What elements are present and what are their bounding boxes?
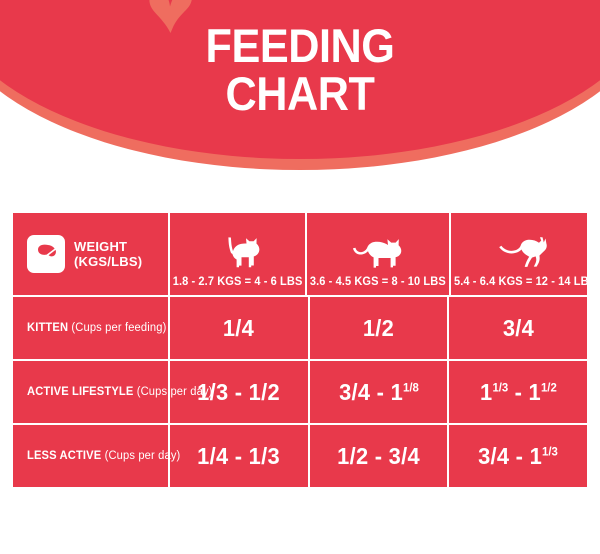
scale-icon [27, 235, 65, 273]
row-label-kitten-main: KITTEN [27, 322, 68, 334]
value-kitten-col1: 1/4 [223, 315, 254, 342]
cell-kitten-col1: 1/4 [168, 297, 308, 359]
adult-weight-range: 3.6 - 4.5 KGS = 8 - 10 LBS [310, 276, 446, 288]
value-active-col3: 11/3 - 11/2 [480, 379, 557, 406]
weight-header-label-line-1: WEIGHT [74, 239, 142, 254]
senior-weight-header-cell: 5.4 - 6.4 KGS = 12 - 14 LBS [449, 213, 599, 295]
cell-less-active-col2: 1/2 - 3/4 [308, 425, 448, 487]
value-active-col2: 3/4 - 11/8 [339, 379, 419, 406]
value-kitten-col3: 3/4 [503, 315, 534, 342]
table-header-row: WEIGHT (KGS/LBS) 1.8 - 2.7 KGS = 4 - 6 L… [13, 213, 587, 295]
page-title: FEEDING CHART [24, 22, 576, 119]
header-banner: FEEDING CHART [0, 0, 600, 180]
cat-sitting-grooming-icon [495, 234, 555, 274]
value-less-active-col3: 3/4 - 11/3 [478, 443, 558, 470]
row-label-kitten: KITTEN (Cups per feeding) [27, 322, 166, 334]
kitten-icon [213, 234, 263, 274]
row-label-kitten-sub: (Cups per feeding) [71, 322, 166, 334]
cell-active-col1: 1/3 - 1/2 [168, 361, 308, 423]
weight-header-cell: WEIGHT (KGS/LBS) [13, 213, 168, 295]
row-label-less-active-main: LESS ACTIVE [27, 450, 101, 462]
value-active-col1: 1/3 - 1/2 [197, 379, 280, 406]
row-label-active-main: ACTIVE LIFESTYLE [27, 386, 133, 398]
table-row: ACTIVE LIFESTYLE (Cups per day) 1/3 - 1/… [13, 359, 587, 423]
kitten-weight-range: 1.8 - 2.7 KGS = 4 - 6 LBS [173, 276, 303, 288]
row-label-less-active: LESS ACTIVE (Cups per day) [27, 450, 180, 462]
weight-header-label-line-2: (KGS/LBS) [74, 254, 142, 269]
adult-weight-header-cell: 3.6 - 4.5 KGS = 8 - 10 LBS [305, 213, 449, 295]
value-kitten-col2: 1/2 [363, 315, 394, 342]
feeding-chart-table: WEIGHT (KGS/LBS) 1.8 - 2.7 KGS = 4 - 6 L… [13, 213, 587, 487]
cell-less-active-col1: 1/4 - 1/3 [168, 425, 308, 487]
weight-header-label: WEIGHT (KGS/LBS) [74, 239, 142, 270]
page-title-line-2: CHART [24, 70, 576, 118]
cell-active-col2: 3/4 - 11/8 [308, 361, 448, 423]
table-row: LESS ACTIVE (Cups per day) 1/4 - 1/3 1/2… [13, 423, 587, 487]
value-less-active-col2: 1/2 - 3/4 [337, 443, 420, 470]
cell-kitten-col3: 3/4 [447, 297, 587, 359]
row-label-cell-active: ACTIVE LIFESTYLE (Cups per day) [13, 361, 168, 423]
page-title-line-1: FEEDING [24, 22, 576, 70]
kitten-weight-header-cell: 1.8 - 2.7 KGS = 4 - 6 LBS [168, 213, 305, 295]
adult-cat-walking-icon [348, 234, 408, 274]
cell-less-active-col3: 3/4 - 11/3 [447, 425, 587, 487]
cell-kitten-col2: 1/2 [308, 297, 448, 359]
senior-weight-range: 5.4 - 6.4 KGS = 12 - 14 LBS [454, 276, 596, 288]
value-less-active-col1: 1/4 - 1/3 [197, 443, 280, 470]
table-row: KITTEN (Cups per feeding) 1/4 1/2 3/4 [13, 295, 587, 359]
row-label-cell-kitten: KITTEN (Cups per feeding) [13, 297, 168, 359]
cell-active-col3: 11/3 - 11/2 [447, 361, 587, 423]
row-label-cell-less-active: LESS ACTIVE (Cups per day) [13, 425, 168, 487]
